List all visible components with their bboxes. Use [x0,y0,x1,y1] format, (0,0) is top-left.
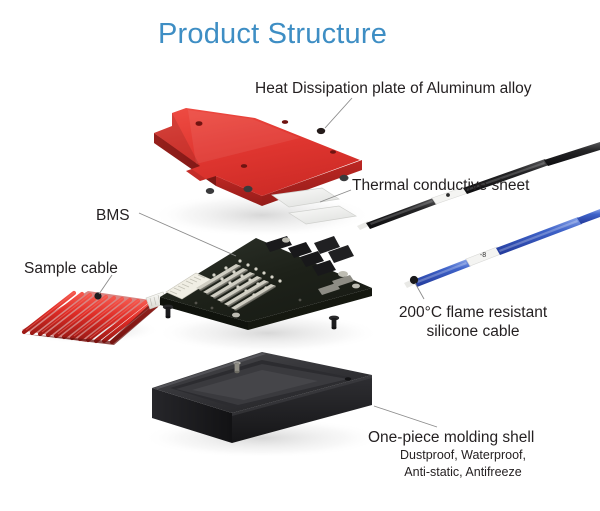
silicone-cable-blue: -8 [404,209,600,288]
bms-pcb [160,236,372,330]
label-molding-shell-title: One-piece molding shell [368,428,558,447]
label-molding-shell-sub-2: Anti-static, Antifreeze [368,465,558,481]
label-molding-shell: One-piece molding shell Dustproof, Water… [368,428,558,481]
label-bms: BMS [96,206,130,225]
label-heat-dissipation-plate: Heat Dissipation plate of Aluminum alloy [255,79,532,98]
leader-heat-dissipation-plate [325,98,352,128]
page-title: Product Structure [158,18,387,51]
label-molding-shell-sub-1: Dustproof, Waterproof, [368,448,558,464]
label-sample-cable: Sample cable [24,259,118,278]
label-thermal-conductive-sheet: Thermal conductive sheet [352,176,529,195]
leader-molding-shell [374,406,437,427]
product-structure-diagram: -8 [0,0,600,511]
svg-text:-8: -8 [480,252,486,259]
label-silicone-cable: 200°C flame resistant silicone cable [393,303,553,342]
heat-dissipation-plate [154,108,362,206]
